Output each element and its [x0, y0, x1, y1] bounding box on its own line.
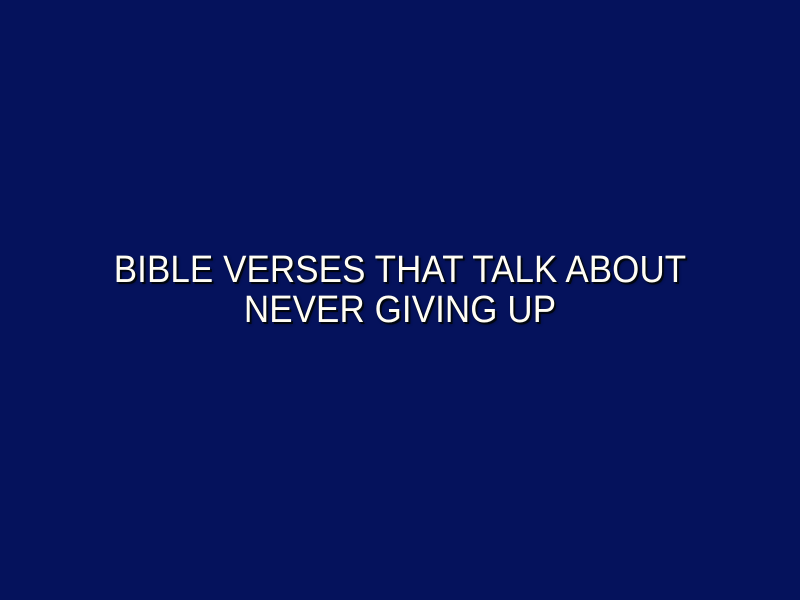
headline-block: BIBLE VERSES THAT TALK ABOUT NEVER GIVIN…: [60, 250, 740, 330]
title-card: BIBLE VERSES THAT TALK ABOUT NEVER GIVIN…: [0, 0, 800, 600]
page-title: BIBLE VERSES THAT TALK ABOUT NEVER GIVIN…: [95, 250, 706, 330]
